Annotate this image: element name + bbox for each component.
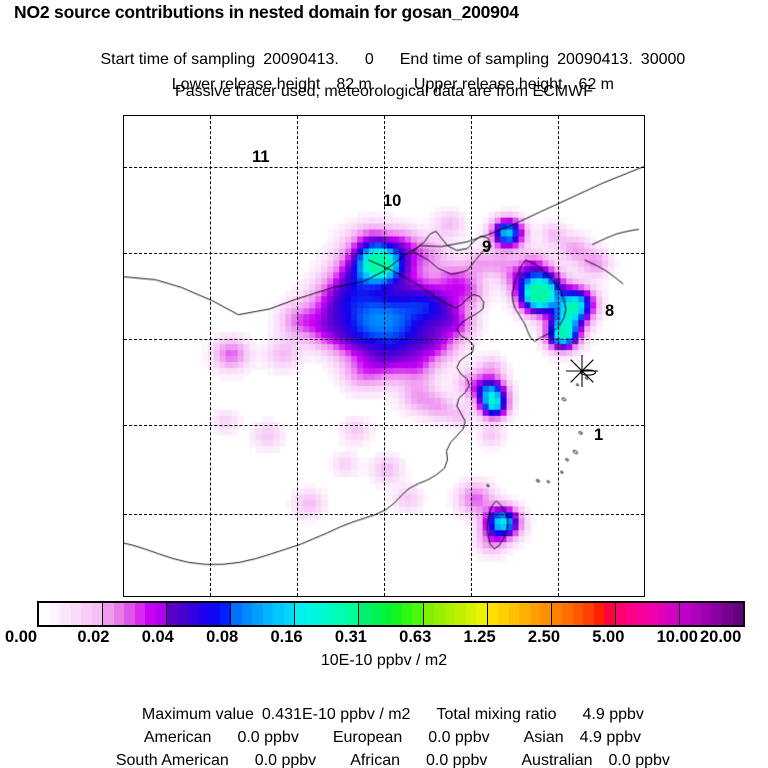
colorbar bbox=[37, 601, 745, 627]
colorbar-cell bbox=[680, 603, 691, 625]
colorbar-segment bbox=[103, 603, 167, 625]
colorbar-cell bbox=[668, 603, 679, 625]
colorbar-cell bbox=[594, 603, 605, 625]
australian-value: 0.0 ppbv bbox=[609, 752, 670, 768]
colorbar-tick: 10.00 bbox=[657, 628, 698, 647]
colorbar-segment bbox=[680, 603, 743, 625]
colorbar-cell bbox=[50, 603, 61, 625]
colorbar-cell bbox=[81, 603, 92, 625]
colorbar-cell bbox=[519, 603, 530, 625]
grid-label: 10 bbox=[383, 193, 401, 210]
gridline-vertical bbox=[384, 116, 385, 596]
colorbar-cell bbox=[573, 603, 584, 625]
colorbar-tick: 5.00 bbox=[592, 628, 624, 647]
colorbar-segment bbox=[359, 603, 423, 625]
colorbar-cell bbox=[327, 603, 338, 625]
colorbar-cell bbox=[616, 603, 627, 625]
colorbar-cell bbox=[722, 603, 733, 625]
colorbar-cell bbox=[316, 603, 327, 625]
colorbar-cell bbox=[156, 603, 167, 625]
gridline-vertical bbox=[210, 116, 211, 596]
stats-row-2: South American0.0 ppbvAfrican0.0 ppbvAus… bbox=[0, 734, 768, 768]
colorbar-segment bbox=[424, 603, 488, 625]
gridline-vertical bbox=[558, 116, 559, 596]
colorbar-cell bbox=[530, 603, 541, 625]
colorbar-cell bbox=[733, 603, 744, 625]
figure-root: NO2 source contributions in nested domai… bbox=[0, 0, 768, 768]
colorbar-cell bbox=[284, 603, 295, 625]
colorbar-cell bbox=[199, 603, 210, 625]
colorbar-cell bbox=[412, 603, 423, 625]
colorbar-tick: 0.16 bbox=[270, 628, 302, 647]
colorbar-tick: 0.00 bbox=[5, 628, 37, 647]
colorbar-cell bbox=[626, 603, 637, 625]
colorbar-unit-label: 10E-10 ppbv / m2 bbox=[0, 652, 768, 670]
african-value: 0.0 ppbv bbox=[426, 752, 487, 768]
colorbar-cell bbox=[337, 603, 348, 625]
colorbar-cell bbox=[145, 603, 156, 625]
colorbar-cell bbox=[540, 603, 551, 625]
colorbar-cell bbox=[604, 603, 615, 625]
colorbar-cell bbox=[231, 603, 242, 625]
colorbar-cell bbox=[167, 603, 178, 625]
colorbar-cell bbox=[637, 603, 648, 625]
gridline-vertical bbox=[471, 116, 472, 596]
release-site-star-icon bbox=[564, 353, 600, 389]
colorbar-cell bbox=[71, 603, 82, 625]
colorbar-tick: 0.04 bbox=[142, 628, 174, 647]
map-panel: 1110981 bbox=[123, 115, 645, 597]
colorbar-cell bbox=[711, 603, 722, 625]
colorbar-cell bbox=[381, 603, 392, 625]
colorbar-cell bbox=[509, 603, 520, 625]
grid-label: 11 bbox=[252, 149, 269, 166]
colorbar-cell bbox=[391, 603, 402, 625]
colorbar-tick: 0.08 bbox=[206, 628, 238, 647]
colorbar-segment bbox=[231, 603, 295, 625]
colorbar-cell bbox=[359, 603, 370, 625]
colorbar-cell bbox=[445, 603, 456, 625]
colorbar-cell bbox=[209, 603, 220, 625]
colorbar-cell bbox=[647, 603, 658, 625]
colorbar-segment bbox=[167, 603, 231, 625]
colorbar-segment bbox=[488, 603, 552, 625]
colorbar-cell bbox=[701, 603, 712, 625]
colorbar-cell bbox=[114, 603, 125, 625]
grid-label: 1 bbox=[594, 427, 603, 444]
grid-label: 8 bbox=[605, 303, 614, 320]
colorbar-cell bbox=[658, 603, 669, 625]
colorbar-cell bbox=[92, 603, 103, 625]
colorbar-cell bbox=[103, 603, 114, 625]
grid-label: 9 bbox=[482, 239, 491, 256]
colorbar-segment bbox=[39, 603, 103, 625]
african-label: African bbox=[350, 752, 400, 768]
colorbar-cell bbox=[60, 603, 71, 625]
colorbar-cell bbox=[220, 603, 231, 625]
colorbar-cell bbox=[348, 603, 359, 625]
colorbar-cell bbox=[135, 603, 146, 625]
colorbar-cell bbox=[124, 603, 135, 625]
colorbar-segment bbox=[295, 603, 359, 625]
colorbar-cell bbox=[178, 603, 189, 625]
gridline-vertical bbox=[297, 116, 298, 596]
colorbar-cell bbox=[434, 603, 445, 625]
colorbar-tick-labels: 0.000.020.040.080.160.310.631.252.505.00… bbox=[0, 628, 768, 650]
colorbar-cell bbox=[242, 603, 253, 625]
figure-title: NO2 source contributions in nested domai… bbox=[14, 2, 519, 23]
colorbar-tick: 20.00 bbox=[700, 628, 741, 647]
colorbar-cell bbox=[562, 603, 573, 625]
colorbar-cell bbox=[306, 603, 317, 625]
colorbar-cell bbox=[583, 603, 594, 625]
colorbar-segment bbox=[552, 603, 616, 625]
colorbar-cell bbox=[690, 603, 701, 625]
colorbar-tick: 1.25 bbox=[464, 628, 496, 647]
colorbar-tick: 0.63 bbox=[399, 628, 431, 647]
colorbar-cell bbox=[466, 603, 477, 625]
colorbar-cell bbox=[488, 603, 499, 625]
colorbar-cell bbox=[476, 603, 487, 625]
colorbar-cell bbox=[370, 603, 381, 625]
tracer-note: Passive tracer used, meteorological data… bbox=[0, 83, 768, 101]
colorbar-cell bbox=[263, 603, 274, 625]
colorbar-tick: 0.31 bbox=[335, 628, 367, 647]
colorbar-cell bbox=[424, 603, 435, 625]
colorbar-cell bbox=[273, 603, 284, 625]
colorbar-cell bbox=[498, 603, 509, 625]
south-american-label: South American bbox=[116, 752, 229, 768]
colorbar-tick: 0.02 bbox=[77, 628, 109, 647]
colorbar-cell bbox=[552, 603, 563, 625]
colorbar-cell bbox=[295, 603, 306, 625]
colorbar-cell bbox=[252, 603, 263, 625]
colorbar-cell bbox=[188, 603, 199, 625]
south-american-value: 0.0 ppbv bbox=[255, 752, 316, 768]
colorbar-cell bbox=[39, 603, 50, 625]
colorbar-segment bbox=[616, 603, 680, 625]
colorbar-cell bbox=[455, 603, 466, 625]
australian-label: Australian bbox=[521, 752, 592, 768]
colorbar-tick: 2.50 bbox=[528, 628, 560, 647]
colorbar-cell bbox=[402, 603, 413, 625]
